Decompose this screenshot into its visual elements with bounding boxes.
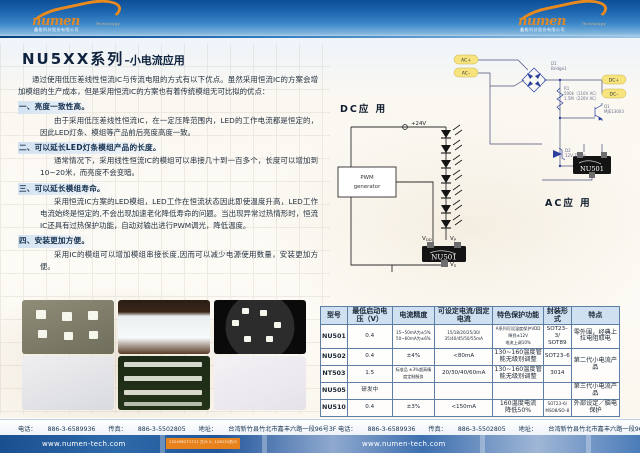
cell-current (435, 382, 493, 399)
table-body: NU501 0.4 15~50mA为±5%50~60mA为±6% 15/18/2… (321, 325, 620, 416)
section-3: 三、可以延长模组寿命。 采用恒流IC方案的LED模组，LED工作在恒流状态因此即… (18, 181, 318, 233)
bridge-name-label: Bridge1 (551, 66, 567, 71)
cell-accuracy (392, 382, 435, 399)
website-url-left[interactable]: www.numen-tech.com (42, 440, 126, 448)
pwm-label-line1: PWM (360, 175, 374, 181)
cell-current: <150mA (435, 399, 493, 416)
page-header: numen Technology 鑫能科技股份有限公司 numen Techno… (0, 0, 640, 38)
photo-led-injection-modules (214, 356, 306, 410)
cell-vstart: 0.4 (347, 399, 392, 416)
cell-model: NU502 (321, 348, 348, 365)
footer-contact-bar: 电话：886-3-6589936 传真：886-3-5502805 地址：台湾新… (0, 419, 640, 435)
cell-accuracy: 标准品 ±3%超高精度定制服务 (392, 365, 435, 382)
addr-value: 台湾新竹县竹北市嘉丰六路一段96号3F (548, 426, 640, 433)
photo-led-strip-rolls (118, 356, 210, 410)
cell-model: NT503 (321, 365, 348, 382)
fax-value: 886-3-5502805 (458, 426, 506, 433)
cell-feature: 第三代小电流产品 (571, 382, 619, 399)
dc-application-diagram: +24V PWM generator (322, 112, 502, 280)
photo-led-panel-light (118, 300, 210, 354)
intro-paragraph: 通过使用低压差线性恒流IC与传流电阻的方式有以下优点。虽然采用恒流IC的方案会增… (18, 74, 318, 98)
addr-value: 台湾新竹县竹北市嘉丰六路一段96号3F (228, 426, 336, 433)
section-2: 二、可以延长LED灯条模组产品的长度。 通常情况下，采用线性恒流IC的模组可以串… (18, 140, 318, 180)
cell-protection: 160温度电流降低50% (493, 399, 544, 416)
company-logo-left: numen Technology 鑫能科技股份有限公司 (26, 2, 126, 36)
cell-vstart: 1.5 (347, 365, 392, 382)
footer-contact-right: 电话：886-3-6589936 传真：886-3-5502805 地址：台湾新… (338, 424, 640, 433)
dc-pin-vdd-label: VDD (422, 236, 432, 242)
ac-section-caption: AC应 用 (545, 195, 592, 209)
cell-feature: 外部设定／脑电保护 (571, 399, 619, 416)
col-model: 型号 (321, 307, 348, 325)
footer-contact-left: 电话：886-3-6589936 传真：886-3-5502805 地址：台湾新… (18, 424, 347, 433)
section-4: 四、安装更加方便。 采用IC的模组可以增加模组串接长度,因而可以减少电源使用数量… (18, 233, 318, 273)
cell-vstart: 0.4 (347, 325, 392, 348)
section-2-heading: 二、可以延长LED灯条模组产品的长度。 (18, 142, 164, 154)
logo-company-name: 鑫能科技股份有限公司 (34, 27, 79, 33)
cell-model: NU501 (321, 325, 348, 348)
page-title-main: NU5XX系列 (22, 50, 124, 68)
tel-label: 电话： (18, 426, 37, 433)
section-2-text: 通常情况下，采用线性恒流IC的模组可以串接几十到一百多个，长度可以增加到10~2… (18, 155, 318, 179)
cell-feature: 第二代小电流产品 (571, 348, 619, 382)
page-title-sub: –小电流应用 (124, 54, 185, 67)
cell-package: SOT23–6/MSO8/SO–8 (543, 399, 571, 416)
footer-badge-left: 132498271711 古/5 0, 126231的/5 (166, 438, 240, 449)
col-accuracy: 电流精度 (392, 307, 435, 325)
section-1-heading: 一、亮度一致性高。 (18, 101, 92, 113)
cell-package: SOT23–3/SOT89 (543, 325, 571, 348)
cell-accuracy: 15~50mA为±5%50~60mA为±6% (392, 325, 435, 348)
section-4-heading: 四、安装更加方便。 (18, 235, 92, 247)
page-title: NU5XX系列–小电流应用 (22, 48, 185, 69)
dc-supply-label: +24V (411, 121, 426, 127)
addr-label: 地址： (519, 426, 538, 433)
d2-value-label: 12V Zener (565, 153, 586, 158)
section-4-text: 采用IC的模组可以增加模组串接长度,因而可以减少电源使用数量，安装更加方便。 (18, 249, 318, 273)
section-3-text: 采用恒流IC方案的LED模组，LED工作在恒流状态因此即使温度升高，LED工作电… (18, 196, 318, 233)
company-logo-right: numen Technology 鑫能科技股份有限公司 (512, 2, 612, 36)
logo-company-name: 鑫能科技股份有限公司 (520, 27, 565, 33)
logo-tagline: Technology (96, 22, 120, 26)
cell-package (543, 382, 571, 399)
website-url-right[interactable]: www.numen-tech.com (362, 440, 446, 448)
cell-protection: 130~160温度管能无级别调整 (493, 365, 544, 382)
photo-led-round-module (214, 300, 306, 354)
dc-minus-terminal: DC– (609, 92, 619, 98)
tel-value: 886-3-6589936 (48, 426, 96, 433)
cell-model: NU510 (321, 399, 348, 416)
dc-chip-label: NU501 (431, 254, 456, 262)
cell-current: <80mA (435, 348, 493, 365)
table-header-row: 型号 最低启动电压（V） 电流精度 可设定电流/固定电流 特色保护功能 封装形式… (321, 307, 620, 325)
pwm-label-line2: generator (354, 184, 381, 190)
cell-protection: A系列可设温度保护VDD降到±12V电流上调10% (493, 325, 544, 348)
q1-value-label: MJE13003 (604, 109, 624, 114)
fax-label: 传真： (108, 426, 127, 433)
ac-minus-terminal: AC– (462, 71, 471, 77)
col-package: 封装形式 (543, 307, 571, 325)
table-row: NU502 0.4 ±4% <80mA 130~160温度管能无级别调整 SOT… (321, 348, 620, 365)
table-row: NU501 0.4 15~50mA为±5%50~60mA为±6% 15/18/2… (321, 325, 620, 348)
cell-vstart: 0.4 (347, 348, 392, 365)
ac-plus-terminal: AC+ (461, 58, 471, 64)
footer-url-bar: www.numen-tech.com 132498271711 古/5 0, 1… (0, 435, 640, 453)
cell-package: SOT23–6 (543, 348, 571, 365)
spec-table: 型号 最低启动电压（V） 电流精度 可设定电流/固定电流 特色保护功能 封装形式… (320, 306, 620, 417)
spec-table-wrap: 型号 最低启动电压（V） 电流精度 可设定电流/固定电流 特色保护功能 封装形式… (320, 306, 620, 417)
section-3-heading: 三、可以延长模组寿命。 (18, 183, 108, 195)
cell-current: 15/18/20/25/30/35/40/45/50/55mA (435, 325, 493, 348)
col-current: 可设定电流/固定电流 (435, 307, 493, 325)
body-copy: 通过使用低压差线性恒流IC与传流电阻的方式有以下优点。虽然采用恒流IC的方案会增… (18, 74, 318, 274)
cell-accuracy: ±4% (392, 348, 435, 365)
dc-plus-terminal: DC+ (609, 78, 620, 84)
logo-tagline: Technology (582, 22, 606, 26)
col-protection: 特色保护功能 (493, 307, 544, 325)
addr-label: 地址： (199, 426, 218, 433)
cell-accuracy: ±3% (392, 399, 435, 416)
photo-led-strip-segments (22, 300, 114, 354)
section-1: 一、亮度一致性高。 由于采用低压差线性恒流IC，在一定压降范围内，LED的工作电… (18, 99, 318, 139)
tel-value: 886-3-6589936 (368, 426, 416, 433)
cell-protection: 130~160温度管能无级别调整 (493, 348, 544, 365)
cell-package: 3014 (543, 365, 571, 382)
cell-model: NU505 (321, 382, 348, 399)
dc-pin-vp-label: VP (450, 236, 457, 242)
cell-feature: 零外围，经典上拉电阻取电 (571, 325, 619, 348)
dc-pin-vs-label: VS (450, 262, 457, 268)
col-startup-voltage: 最低启动电压（V） (347, 307, 392, 325)
r1-value-line2: 1.5M（220V AC） (564, 96, 599, 101)
product-photo-grid (22, 300, 310, 412)
cell-protection (493, 382, 544, 399)
table-row: NU505 研发中 第三代小电流产品 (321, 382, 620, 399)
tel-label: 电话： (338, 426, 357, 433)
section-1-text: 由于采用低压差线性恒流IC，在一定压降范围内，LED的工作电流都是恒定的，因此L… (18, 115, 318, 139)
fax-label: 传真： (428, 426, 447, 433)
ac-chip-label: NU501 (580, 165, 604, 173)
brochure-page: numen Technology 鑫能科技股份有限公司 numen Techno… (0, 0, 640, 453)
table-row: NU510 0.4 ±3% <150mA 160温度电流降低50% SOT23–… (321, 399, 620, 416)
fax-value: 886-3-5502805 (138, 426, 186, 433)
photo-led-strip-reel (22, 356, 114, 410)
cell-current: 20/30/40/60mA (435, 365, 493, 382)
cell-vstart: 研发中 (347, 382, 392, 399)
col-feature: 特点 (571, 307, 619, 325)
